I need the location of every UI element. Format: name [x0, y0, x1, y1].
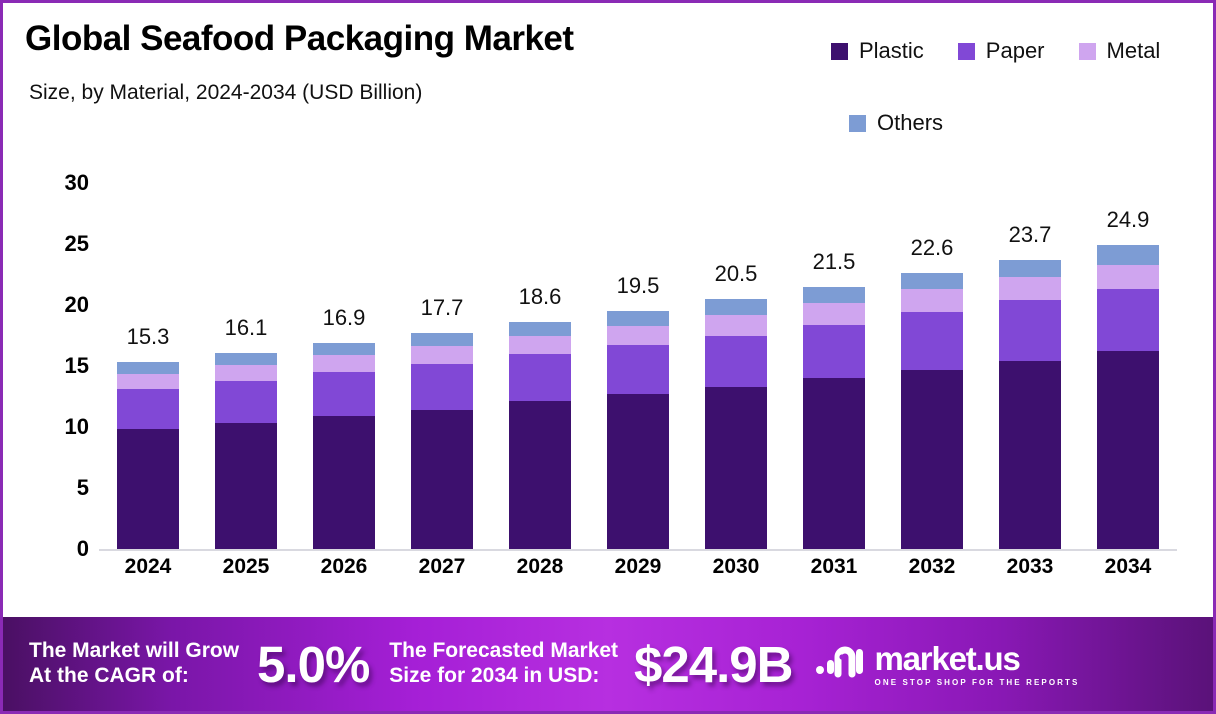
x-axis-label: 2029	[589, 555, 687, 579]
y-axis-tick: 20	[65, 292, 89, 318]
x-axis-label: 2028	[491, 555, 589, 579]
infographic-page: Global Seafood Packaging Market Size, by…	[0, 0, 1216, 714]
x-axis-label: 2034	[1079, 555, 1177, 579]
legend-row-2: Others	[849, 103, 1201, 143]
legend-swatch-plastic	[831, 43, 848, 60]
legend-label-plastic: Plastic	[859, 38, 924, 64]
bar-segment-metal[interactable]	[803, 303, 865, 325]
bar-segment-plastic[interactable]	[117, 429, 179, 549]
bar-segment-paper[interactable]	[901, 312, 963, 369]
bar-column[interactable]: 23.7	[981, 153, 1079, 549]
bar-segment-others[interactable]	[803, 287, 865, 303]
forecast-caption-line2: Size for 2034 in USD:	[389, 664, 618, 689]
bar-total-label: 21.5	[813, 249, 856, 275]
y-axis: 051015202530	[39, 153, 89, 549]
bar-segment-metal[interactable]	[215, 365, 277, 381]
bar-column[interactable]: 24.9	[1079, 153, 1177, 549]
bar-segment-paper[interactable]	[607, 345, 669, 394]
bar-segment-others[interactable]	[313, 343, 375, 355]
bar-segment-metal[interactable]	[509, 336, 571, 354]
bar-total-label: 20.5	[715, 261, 758, 287]
bar-total-label: 23.7	[1009, 222, 1052, 248]
bar-column[interactable]: 18.6	[491, 153, 589, 549]
chart-plot-area: 051015202530 15.316.116.917.718.619.520.…	[3, 153, 1213, 609]
cagr-value: 5.0%	[257, 635, 369, 694]
x-axis-label: 2026	[295, 555, 393, 579]
legend-label-metal: Metal	[1107, 38, 1161, 64]
bar-segment-plastic[interactable]	[1097, 351, 1159, 549]
forecast-caption-line1: The Forecasted Market	[389, 639, 618, 664]
bar-segment-others[interactable]	[999, 260, 1061, 277]
market-us-logo[interactable]: market.us ONE STOP SHOP FOR THE REPORTS	[815, 642, 1080, 687]
bar-segment-paper[interactable]	[509, 354, 571, 402]
bar-stack	[999, 260, 1061, 549]
legend-swatch-others	[849, 115, 866, 132]
page-subtitle: Size, by Material, 2024-2034 (USD Billio…	[29, 81, 422, 105]
bar-stack	[607, 311, 669, 549]
bar-segment-plastic[interactable]	[411, 410, 473, 549]
bar-segment-metal[interactable]	[411, 346, 473, 363]
bar-stack	[803, 287, 865, 549]
legend-item-plastic[interactable]: Plastic	[831, 38, 924, 64]
bar-column[interactable]: 19.5	[589, 153, 687, 549]
bar-segment-plastic[interactable]	[313, 416, 375, 549]
bar-stack	[705, 299, 767, 549]
bar-stack	[313, 343, 375, 549]
logo-tagline: ONE STOP SHOP FOR THE REPORTS	[875, 678, 1080, 687]
bar-segment-paper[interactable]	[705, 336, 767, 387]
logo-wordmark: market.us	[875, 642, 1080, 675]
bar-segment-plastic[interactable]	[803, 378, 865, 549]
bar-segment-plastic[interactable]	[705, 387, 767, 549]
cagr-caption-line2: At the CAGR of:	[29, 664, 239, 689]
y-axis-tick: 15	[65, 353, 89, 379]
bar-stack	[1097, 245, 1159, 549]
footer-banner: The Market will Grow At the CAGR of: 5.0…	[3, 617, 1213, 711]
bar-segment-paper[interactable]	[1097, 289, 1159, 351]
bar-total-label: 18.6	[519, 284, 562, 310]
bar-segment-metal[interactable]	[999, 277, 1061, 300]
y-axis-tick: 30	[65, 170, 89, 196]
bar-segment-plastic[interactable]	[509, 401, 571, 549]
bar-segment-metal[interactable]	[607, 326, 669, 346]
bar-stack	[117, 362, 179, 549]
bar-column[interactable]: 20.5	[687, 153, 785, 549]
bar-segment-metal[interactable]	[117, 374, 179, 389]
bar-total-label: 16.9	[323, 305, 366, 331]
bar-segment-others[interactable]	[215, 353, 277, 365]
bar-segment-metal[interactable]	[1097, 265, 1159, 289]
bar-total-label: 22.6	[911, 235, 954, 261]
bar-segment-plastic[interactable]	[901, 370, 963, 549]
x-axis-label: 2024	[99, 555, 197, 579]
x-axis-label: 2025	[197, 555, 295, 579]
market-us-logo-text: market.us ONE STOP SHOP FOR THE REPORTS	[875, 642, 1080, 687]
y-axis-tick: 0	[77, 536, 89, 562]
bar-stack	[509, 322, 571, 549]
bar-stack	[411, 333, 473, 549]
forecast-caption: The Forecasted Market Size for 2034 in U…	[389, 639, 618, 688]
legend-swatch-metal	[1079, 43, 1096, 60]
bar-segment-plastic[interactable]	[215, 423, 277, 549]
bar-segment-others[interactable]	[411, 333, 473, 346]
bar-total-label: 17.7	[421, 295, 464, 321]
bar-stack	[901, 273, 963, 549]
bar-total-label: 15.3	[127, 324, 170, 350]
bar-segment-paper[interactable]	[411, 364, 473, 410]
bar-segment-others[interactable]	[1097, 245, 1159, 265]
y-axis-tick: 10	[65, 414, 89, 440]
bar-segment-others[interactable]	[705, 299, 767, 315]
x-axis-label: 2031	[785, 555, 883, 579]
legend-item-paper[interactable]: Paper	[958, 38, 1045, 64]
x-axis-label: 2032	[883, 555, 981, 579]
bar-segment-metal[interactable]	[901, 289, 963, 312]
x-axis-labels: 2024202520262027202820292030203120322033…	[99, 555, 1177, 579]
bar-segment-plastic[interactable]	[999, 361, 1061, 549]
y-axis-tick: 25	[65, 231, 89, 257]
market-us-logo-icon	[815, 644, 867, 685]
bar-segment-others[interactable]	[509, 322, 571, 335]
bar-segment-metal[interactable]	[705, 315, 767, 336]
bar-column[interactable]: 17.7	[393, 153, 491, 549]
legend-item-others[interactable]: Others	[849, 110, 943, 136]
bar-segment-paper[interactable]	[803, 325, 865, 379]
bar-total-label: 24.9	[1107, 207, 1150, 233]
legend-label-paper: Paper	[986, 38, 1045, 64]
bar-segment-others[interactable]	[117, 362, 179, 374]
bar-column[interactable]: 16.1	[197, 153, 295, 549]
bar-column[interactable]: 15.3	[99, 153, 197, 549]
legend-row-1: Plastic Paper Metal	[831, 31, 1201, 71]
bar-segment-others[interactable]	[607, 311, 669, 326]
legend-label-others: Others	[877, 110, 943, 136]
bar-segment-plastic[interactable]	[607, 394, 669, 549]
bar-group: 15.316.116.917.718.619.520.521.522.623.7…	[99, 153, 1177, 549]
forecast-value: $24.9B	[634, 635, 792, 694]
bar-segment-others[interactable]	[901, 273, 963, 289]
legend-item-metal[interactable]: Metal	[1079, 38, 1161, 64]
bar-segment-paper[interactable]	[999, 300, 1061, 361]
cagr-caption: The Market will Grow At the CAGR of:	[29, 639, 239, 688]
bar-segment-paper[interactable]	[313, 372, 375, 416]
legend-swatch-paper	[958, 43, 975, 60]
x-axis-label: 2033	[981, 555, 1079, 579]
bar-total-label: 19.5	[617, 273, 660, 299]
x-axis-line	[99, 549, 1177, 551]
y-axis-tick: 5	[77, 475, 89, 501]
page-title: Global Seafood Packaging Market	[25, 19, 574, 59]
x-axis-label: 2027	[393, 555, 491, 579]
bar-column[interactable]: 16.9	[295, 153, 393, 549]
bar-stack	[215, 353, 277, 549]
bar-column[interactable]: 22.6	[883, 153, 981, 549]
bar-segment-metal[interactable]	[313, 355, 375, 372]
cagr-caption-line1: The Market will Grow	[29, 639, 239, 664]
chart-legend: Plastic Paper Metal Others	[831, 31, 1201, 143]
bar-segment-paper[interactable]	[117, 389, 179, 430]
bar-column[interactable]: 21.5	[785, 153, 883, 549]
bar-segment-paper[interactable]	[215, 381, 277, 424]
bar-total-label: 16.1	[225, 315, 268, 341]
x-axis-label: 2030	[687, 555, 785, 579]
